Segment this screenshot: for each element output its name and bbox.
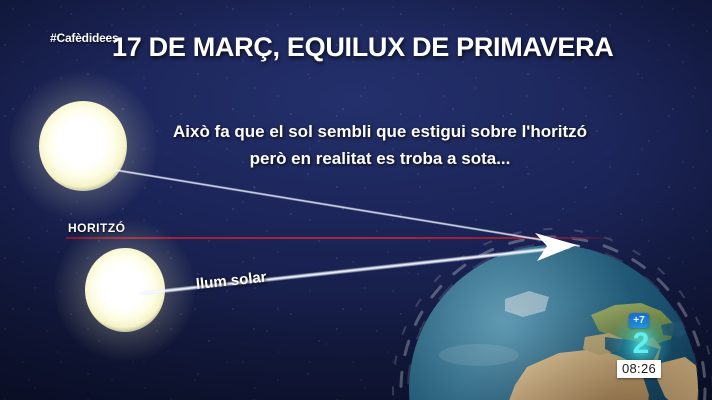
age-rating-badge: +7 bbox=[629, 313, 649, 328]
arrow-right-icon bbox=[533, 227, 579, 263]
on-screen-clock: 08:26 bbox=[617, 360, 661, 378]
explanatory-caption: Això fa que el sol sembli que estigui so… bbox=[132, 118, 628, 172]
sun-icon-apparent bbox=[39, 101, 127, 191]
channel-logo: 2 bbox=[622, 329, 660, 359]
caption-line-2: però en realitat es troba a sota... bbox=[132, 145, 628, 172]
broadcast-screenshot: HORITZÓ #Cafèdidees 17 DE MARÇ, EQUILUX … bbox=[0, 0, 712, 400]
horizon-line bbox=[66, 237, 606, 239]
arrow-head-svg bbox=[533, 227, 579, 263]
caption-line-1: Això fa que el sol sembli que estigui so… bbox=[173, 122, 587, 141]
horizon-label: HORITZÓ bbox=[68, 221, 126, 235]
sun-icon-real bbox=[85, 248, 165, 332]
program-hashtag: #Cafèdidees bbox=[50, 31, 119, 45]
page-title: 17 DE MARÇ, EQUILUX DE PRIMAVERA bbox=[112, 32, 613, 63]
